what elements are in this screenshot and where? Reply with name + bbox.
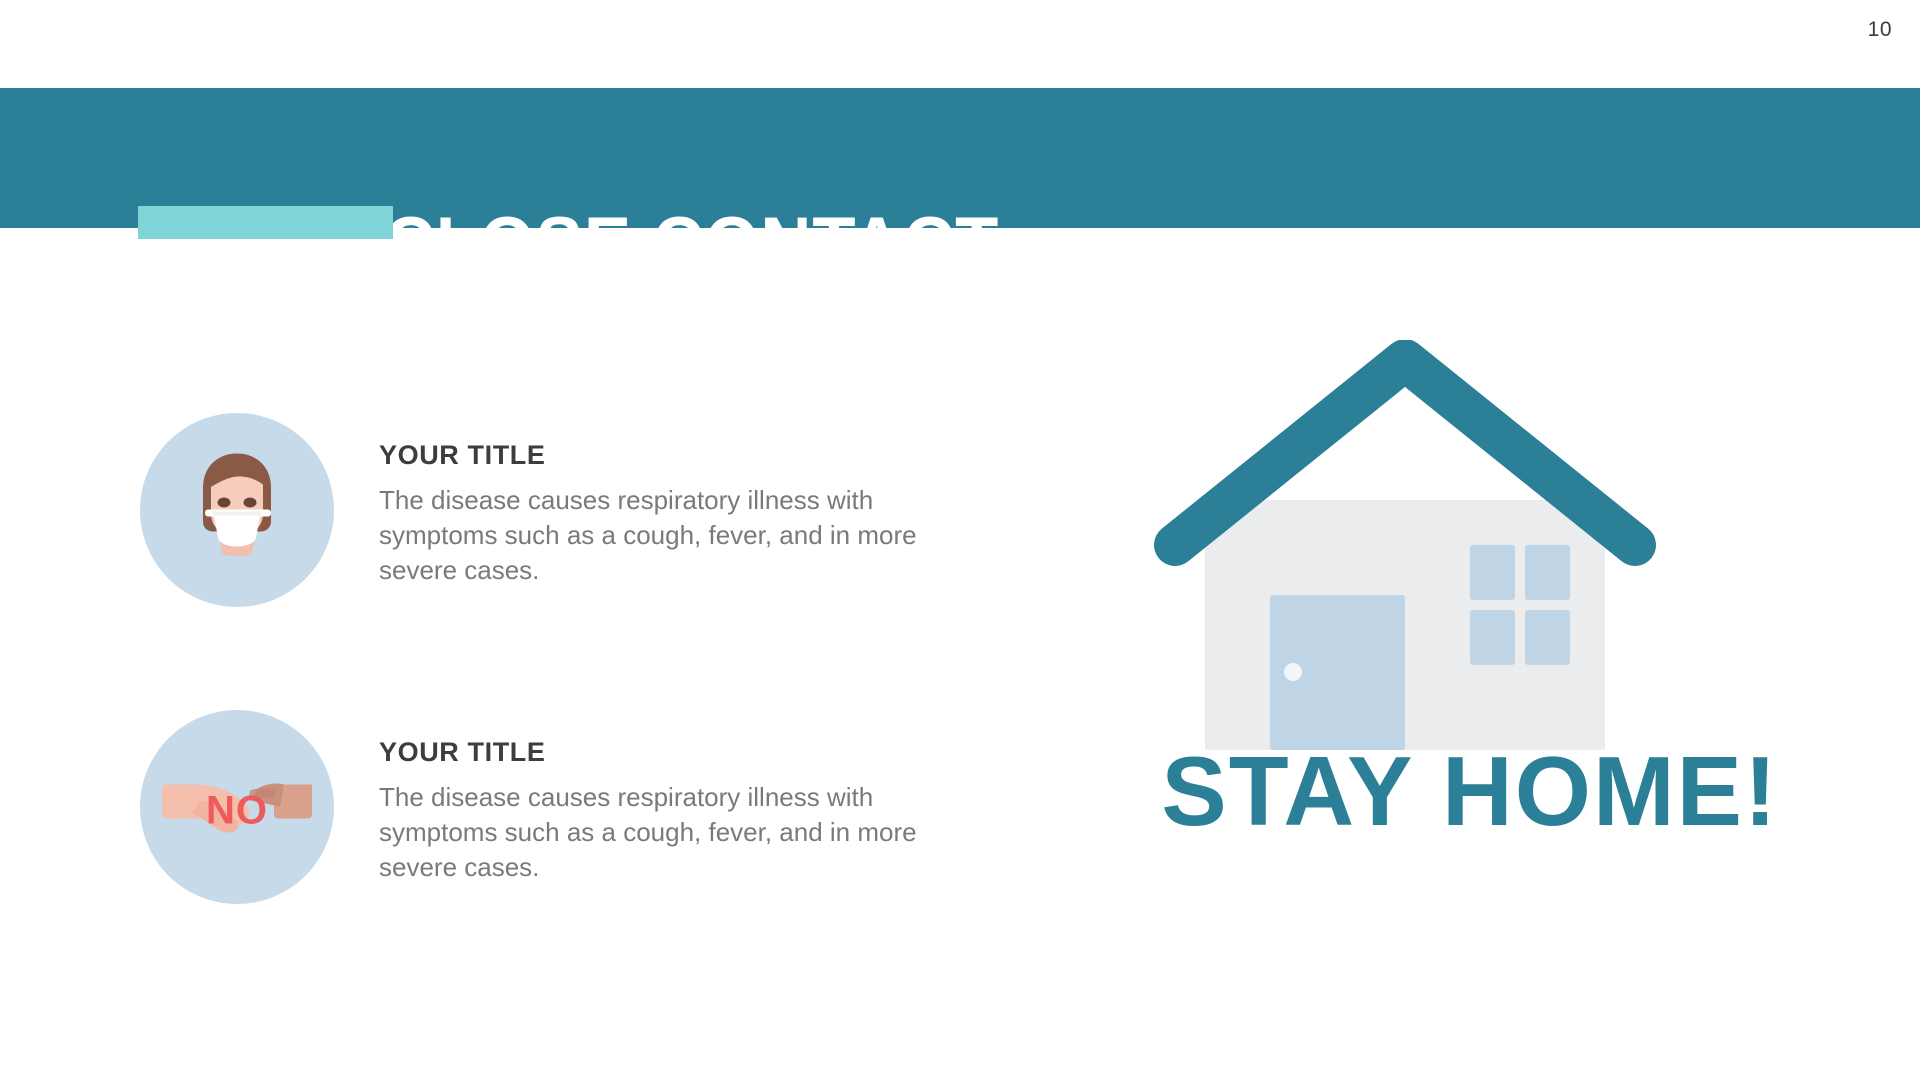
header-accent-bar: [138, 206, 393, 239]
feature-text-block: YOUR TITLE The disease causes respirator…: [379, 405, 974, 588]
slide-canvas: 10 AVOID CLOSE CONTACT: [0, 0, 1920, 1080]
feature-description: The disease causes respiratory illness w…: [379, 483, 974, 588]
masked-person-icon: [177, 440, 297, 581]
feature-title: YOUR TITLE: [379, 737, 974, 768]
feature-icon-badge: [140, 413, 334, 607]
list-item: NO YOUR TITLE The disease causes respira…: [140, 702, 1000, 942]
feature-list: YOUR TITLE The disease causes respirator…: [140, 405, 1000, 942]
house-icon: [1130, 340, 1770, 760]
no-label: NO: [162, 789, 312, 834]
feature-description: The disease causes respiratory illness w…: [379, 780, 974, 885]
stay-home-caption: STAY HOME!: [1130, 735, 1810, 848]
list-item: YOUR TITLE The disease causes respirator…: [140, 405, 1000, 645]
feature-text-block: YOUR TITLE The disease causes respirator…: [379, 702, 974, 885]
page-number: 10: [1868, 18, 1892, 42]
no-handshake-icon: NO: [162, 759, 312, 856]
feature-title: YOUR TITLE: [379, 440, 974, 471]
illustration-area: STAY HOME!: [1130, 340, 1810, 900]
feature-icon-badge: NO: [140, 710, 334, 904]
